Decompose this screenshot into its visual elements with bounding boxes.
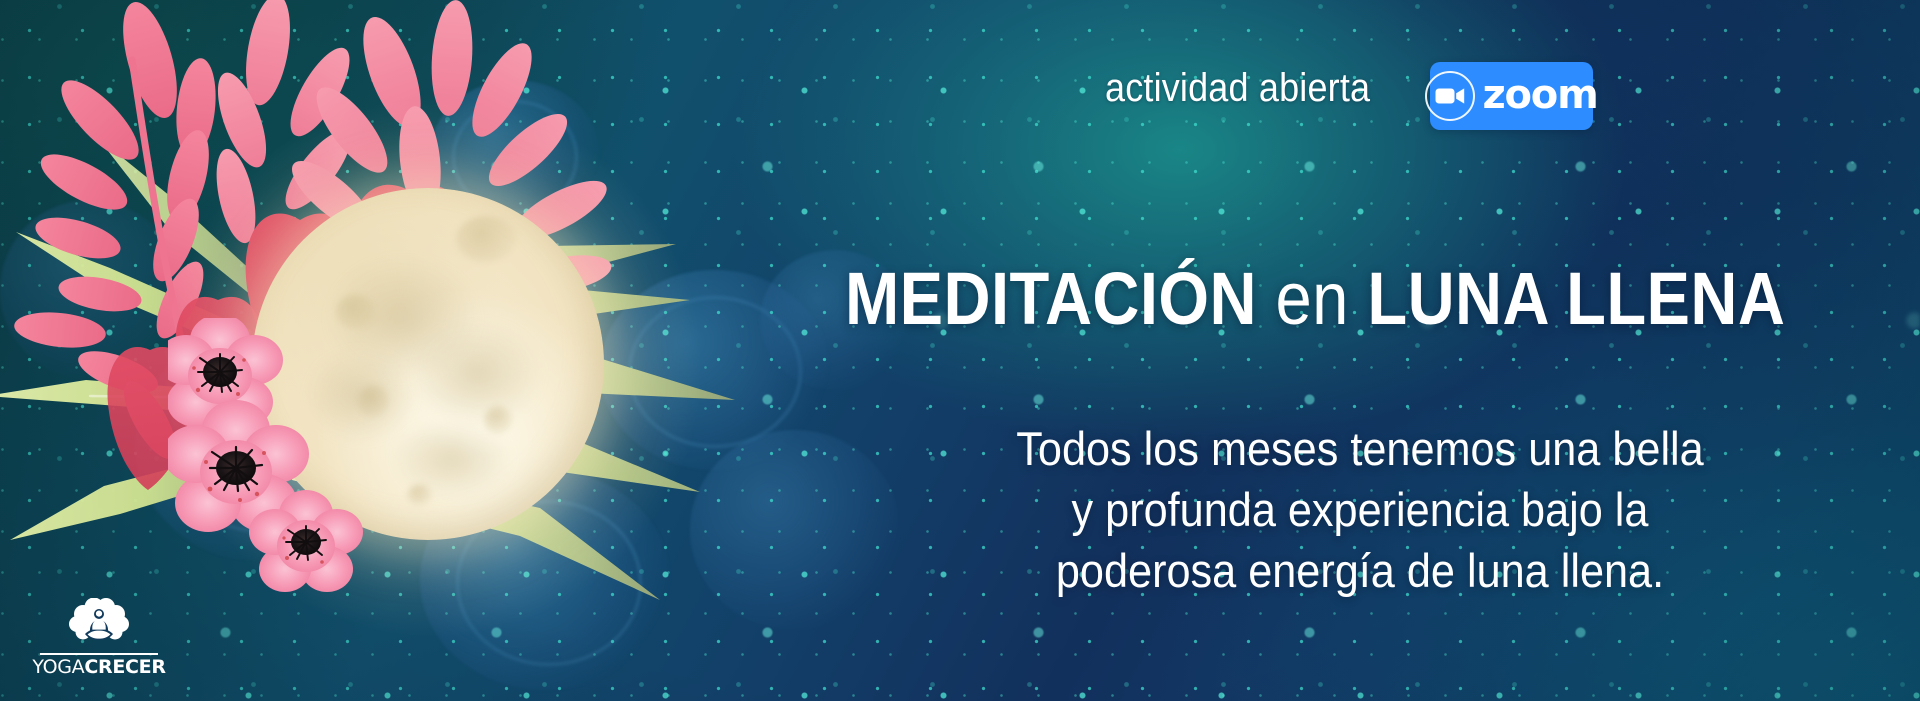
headline-part-1: MEDITACIÓN xyxy=(845,257,1257,340)
moon-meditation-banner: actividad abierta zoom MEDITACIÓN en LUN… xyxy=(0,0,1920,701)
subcopy-text: Todos los meses tenemos una bella y prof… xyxy=(992,418,1728,601)
headline-connector: en xyxy=(1276,257,1349,340)
brand-wordmark: YOGACRECER xyxy=(32,658,165,677)
pink-anemone-flowers xyxy=(168,318,468,618)
video-camera-icon xyxy=(1425,71,1475,121)
brand-divider xyxy=(40,653,158,655)
zoom-badge[interactable]: zoom xyxy=(1430,62,1593,130)
meditating-figure-tree-icon xyxy=(63,598,135,650)
headline-part-2: LUNA LLENA xyxy=(1367,257,1785,340)
subcopy-line-1: Todos los meses tenemos una bella xyxy=(992,418,1728,479)
page-title: MEDITACIÓN en LUNA LLENA xyxy=(845,262,1785,336)
subcopy-line-2: y profunda experiencia bajo la xyxy=(992,479,1728,540)
brand-name-bold: CRECER xyxy=(84,656,165,678)
kicker-text: actividad abierta xyxy=(1105,66,1370,111)
brand-logo[interactable]: YOGACRECER xyxy=(36,598,162,677)
zoom-wordmark: zoom xyxy=(1482,75,1597,115)
subcopy-line-3: poderosa energía de luna llena. xyxy=(992,540,1728,601)
brand-name-light: YOGA xyxy=(32,656,84,678)
